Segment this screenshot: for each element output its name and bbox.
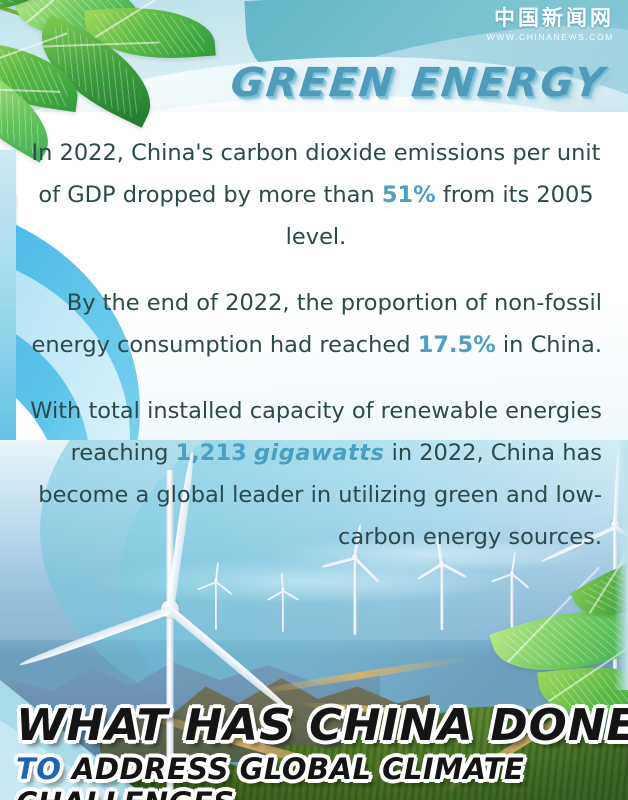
text-segment-space bbox=[247, 440, 254, 466]
paragraph-installed-capacity: With total installed capacity of renewab… bbox=[30, 390, 602, 558]
turbine-blade bbox=[511, 573, 529, 589]
paragraph-co2-intensity: In 2022, China's carbon dioxide emission… bbox=[30, 132, 602, 258]
turbine-blade bbox=[283, 590, 300, 601]
wind-turbine-ridge-5 bbox=[492, 562, 532, 630]
page-title: GREEN ENERGY bbox=[229, 60, 609, 106]
headline-to-word: TO bbox=[16, 752, 61, 786]
highlight-value-1213: 1,213 bbox=[176, 440, 247, 466]
paragraph-non-fossil-share: By the end of 2022, the proportion of no… bbox=[30, 282, 602, 366]
logo-url: WWW.CHINANEWS.COM bbox=[487, 32, 614, 42]
turbine-mast bbox=[354, 557, 357, 635]
turbine-blade bbox=[267, 590, 284, 601]
logo-chinese-name: 中国新闻网 bbox=[487, 8, 614, 29]
turbine-mast bbox=[441, 560, 444, 630]
wind-turbine-ridge-3 bbox=[196, 570, 236, 630]
highlight-value-17-5pct: 17.5% bbox=[418, 332, 496, 358]
turbine-mast bbox=[282, 588, 284, 632]
turbine-blade bbox=[197, 581, 216, 590]
highlight-value-51pct: 51% bbox=[382, 182, 436, 208]
headline-rest: ADDRESS GLOBAL CLIMATE CHALLENGES bbox=[16, 752, 524, 800]
turbine-mast bbox=[215, 580, 217, 630]
headline-line-2: TO ADDRESS GLOBAL CLIMATE CHALLENGES bbox=[16, 752, 628, 800]
chinanews-logo[interactable]: 中国新闻网 WWW.CHINANEWS.COM bbox=[487, 8, 614, 42]
highlight-unit-gigawatts: gigawatts bbox=[254, 440, 384, 466]
body-text-block: In 2022, China's carbon dioxide emission… bbox=[30, 132, 602, 566]
turbine-blade bbox=[491, 573, 512, 582]
infographic-poster: 中国新闻网 WWW.CHINANEWS.COM GREEN ENERGY In … bbox=[0, 0, 628, 800]
turbine-blade bbox=[215, 581, 232, 595]
right-edge-fade bbox=[614, 440, 628, 690]
wind-turbine-ridge-4 bbox=[265, 580, 301, 632]
text-segment: in China. bbox=[496, 332, 602, 358]
turbine-mast bbox=[511, 572, 514, 630]
headline-line-1: WHAT HAS CHINA DONE bbox=[16, 700, 628, 751]
